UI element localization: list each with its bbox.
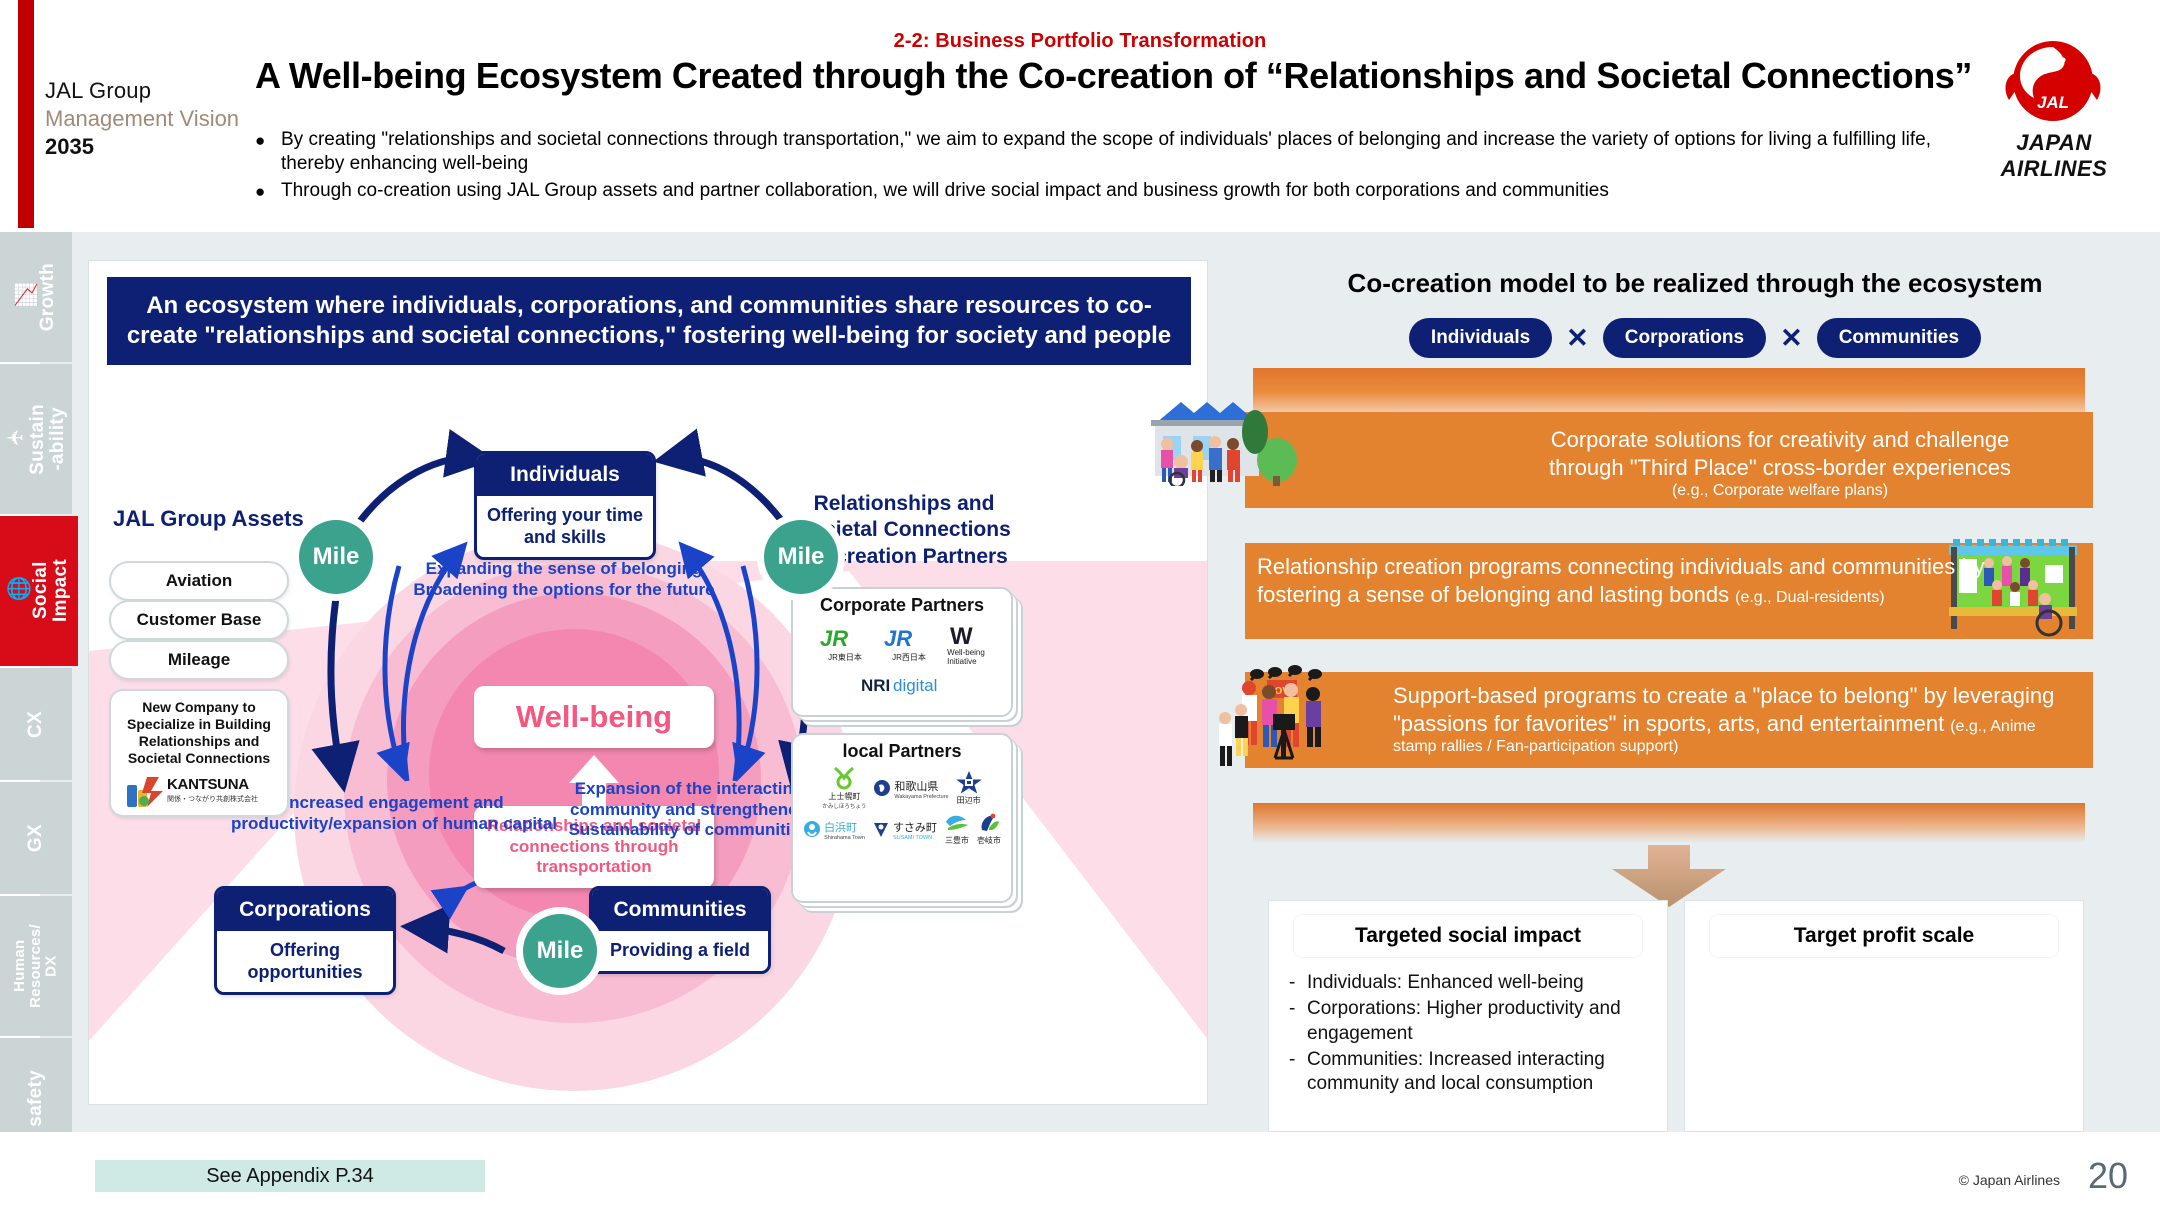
- dash-bullet-icon: -: [1289, 1048, 1307, 1097]
- logo-caption-sub: SUSAMI TOWN: [893, 835, 937, 841]
- target-profit-scale-title: Target profit scale: [1710, 915, 2058, 957]
- logo-caption-sub: かみしほろちょう: [822, 802, 866, 810]
- node-individuals-body: Offering your time and skills: [477, 496, 653, 557]
- svg-text:JAL: JAL: [2037, 93, 2069, 112]
- logo-susami: すさみ町 SUSAMI TOWN: [872, 818, 937, 841]
- cross-icon: ✕: [1780, 323, 1803, 354]
- list-item: -Corporations: Higher productivity and e…: [1289, 997, 1647, 1046]
- svg-text:digital: digital: [893, 676, 937, 695]
- brand-block: JAL Group Management Vision 2035: [45, 78, 275, 160]
- logo-caption: 田辺市: [957, 795, 981, 806]
- bullet-text: Through co-creation using JAL Group asse…: [281, 179, 1609, 203]
- sidebar-item-label: GX: [26, 824, 46, 852]
- shirahama-icon: [803, 820, 821, 838]
- node-communities-title: Communities: [592, 889, 768, 931]
- copyright-text: © Japan Airlines: [1959, 1172, 2060, 1188]
- kantsuna-logo: KANTSUNA 関係・つながり共創株式会社: [123, 771, 275, 811]
- susami-icon: [872, 820, 890, 838]
- page-number: 20: [2088, 1155, 2128, 1197]
- mile-label: Mile: [537, 937, 584, 965]
- sidebar-item-human-resources-dx[interactable]: Human Resources/ DX: [0, 896, 72, 1036]
- logo-wakayama: 和歌山県 Wakayama Prefecture: [873, 777, 948, 800]
- dash-bullet-icon: -: [1289, 971, 1307, 995]
- impact-item-text: Corporations: Higher productivity and en…: [1307, 997, 1647, 1046]
- flow-label-top: Expanding the sense of belonging Broaden…: [364, 559, 764, 600]
- mitoyo-icon: [944, 812, 970, 834]
- sidebar-item-label: Social Impact: [31, 559, 71, 622]
- program-band-1: Corporate solutions for creativity and c…: [1245, 412, 2093, 508]
- tag-communities: Communities: [1817, 318, 1981, 358]
- target-profit-scale-card: Target profit scale This business Synerg…: [1684, 900, 2084, 1132]
- logo-shirahama: 白浜町 Shirahama Town: [803, 818, 865, 841]
- side-tab-rail: 📈Growth ✈Sustain -ability 🌐Social Impact…: [0, 232, 76, 1132]
- svg-text:JR: JR: [884, 626, 912, 651]
- jr-east-icon: JR: [818, 625, 872, 651]
- targeted-social-impact-title: Targeted social impact: [1294, 915, 1642, 957]
- list-item: ● Through co-creation using JAL Group as…: [255, 179, 1955, 205]
- mile-label: Mile: [313, 543, 360, 571]
- node-communities: Communities Providing a field: [589, 886, 771, 974]
- jal-logo: JAL JAPAN AIRLINES: [1968, 38, 2140, 158]
- local-partners-title: local Partners: [793, 735, 1011, 764]
- svg-text:JR: JR: [820, 626, 848, 651]
- local-partners-card: local Partners 上士幌町 かみしほろちょう: [791, 733, 1013, 903]
- targeted-social-impact-card: Targeted social impact -Individuals: Enh…: [1268, 900, 1668, 1132]
- wakayama-icon: [873, 779, 891, 797]
- svg-text:NRI: NRI: [861, 676, 890, 695]
- appendix-reference[interactable]: See Appendix P.34: [95, 1160, 485, 1192]
- logo-tanabe: 田辺市: [956, 770, 982, 806]
- node-corporations-title: Corporations: [217, 889, 393, 931]
- sidebar-item-sustainability[interactable]: ✈Sustain -ability: [0, 364, 72, 514]
- bullet-text: By creating "relationships and societal …: [281, 128, 1955, 177]
- asset-new-company-card: New Company to Specialize in Building Re…: [109, 689, 289, 817]
- asset-pill-customer-base: Customer Base: [109, 600, 289, 640]
- impact-item-text: Communities: Increased interacting commu…: [1307, 1048, 1647, 1097]
- brand-line-2: Management Vision: [45, 106, 275, 132]
- corporate-partners-card: Corporate Partners JR JR東日本 JR JR西日本: [791, 587, 1013, 717]
- jal-crane-icon: JAL: [2001, 38, 2105, 124]
- node-individuals: Individuals Offering your time and skill…: [474, 451, 656, 560]
- list-item: -Individuals: Enhanced well-being: [1289, 971, 1647, 995]
- logo-nri-digital: NRI digital: [860, 671, 944, 697]
- page-title: A Well-being Ecosystem Created through t…: [255, 55, 1975, 97]
- header-bullets: ● By creating "relationships and societa…: [255, 128, 1955, 207]
- tag-corporations: Corporations: [1603, 318, 1766, 358]
- bullet-dot-icon: ●: [255, 128, 281, 154]
- logo-caption-sub: Shirahama Town: [824, 835, 865, 841]
- jr-west-icon: JR: [882, 625, 936, 651]
- program-band-2-example: (e.g., Dual-residents): [1735, 589, 1884, 606]
- logo-caption: JR西日本: [892, 652, 926, 663]
- node-corporations: Corporations Offering opportunities: [214, 886, 396, 995]
- logo-caption: 白浜町: [824, 819, 865, 835]
- tanabe-star-icon: [956, 770, 982, 794]
- node-individuals-title: Individuals: [477, 454, 653, 496]
- node-corporations-body: Offering opportunities: [217, 931, 393, 992]
- asset-pill-mileage: Mileage: [109, 640, 289, 680]
- logo-caption: 壱岐市: [977, 835, 1001, 846]
- globe-icon: 🌐: [7, 576, 31, 602]
- growth-chart-icon: 📈: [14, 282, 38, 308]
- local-partner-logos: 上士幌町 かみしほろちょう 和歌山県 Wakayama Prefecture: [793, 764, 1011, 848]
- jal-group-assets-title: JAL Group Assets: [113, 506, 304, 532]
- mile-badge-bottom: Mile: [523, 914, 597, 988]
- sidebar-item-label: Sustain -ability: [28, 404, 68, 475]
- dash-bullet-icon: -: [1289, 997, 1307, 1046]
- logo-caption: JR東日本: [828, 652, 862, 663]
- tag-individuals: Individuals: [1409, 318, 1552, 358]
- wellbeing-initiative-icon: W: [946, 622, 986, 648]
- sidebar-item-label: Human Resources/ DX: [12, 924, 59, 1008]
- section-eyebrow: 2-2: Business Portfolio Transformation: [0, 30, 2160, 53]
- list-item: -Communities: Increased interacting comm…: [1289, 1048, 1647, 1097]
- sidebar-item-label: CX: [26, 711, 46, 738]
- logo-caption: 上士幌町: [828, 791, 860, 802]
- corporate-partners-title: Corporate Partners: [793, 589, 1011, 618]
- bullet-dot-icon: ●: [255, 179, 281, 205]
- logo-caption-sub: Wakayama Prefecture: [894, 794, 948, 800]
- asset-pill-aviation: Aviation: [109, 561, 289, 601]
- orange-gradient-band-bottom: [1253, 803, 2085, 843]
- fans-cheering-illustration-icon: LOVE: [1215, 658, 1395, 778]
- sidebar-item-social-impact[interactable]: 🌐Social Impact: [0, 516, 78, 666]
- jal-wordmark: JAPAN AIRLINES: [1968, 130, 2140, 182]
- logo-wellbeing-initiative: W Well-being Initiative: [946, 622, 986, 667]
- logo-jr-west: JR JR西日本: [882, 625, 936, 663]
- kantsuna-name: KANTSUNA: [167, 776, 249, 793]
- program-band-2: Relationship creation programs connectin…: [1245, 543, 2093, 639]
- program-band-1-example: (e.g., Corporate welfare plans): [1480, 482, 2080, 500]
- logo-caption: Well-being Initiative: [947, 649, 985, 667]
- program-band-3: LOVE Support-based programs to create a …: [1245, 672, 2093, 768]
- sidebar-item-growth[interactable]: 📈Growth: [0, 232, 72, 362]
- logo-iki: 壱岐市: [977, 812, 1001, 846]
- asset-new-company-text: New Company to Specialize in Building Re…: [115, 699, 283, 767]
- logo-jr-east: JR JR東日本: [818, 625, 872, 663]
- ecosystem-banner: An ecosystem where individuals, corporat…: [107, 277, 1191, 365]
- targeted-social-impact-list: -Individuals: Enhanced well-being -Corpo…: [1269, 957, 1667, 1097]
- nri-digital-icon: NRI digital: [860, 671, 944, 697]
- program-band-1-text: Corporate solutions for creativity and c…: [1480, 426, 2080, 482]
- kamishihoro-icon: [831, 766, 857, 790]
- svg-text:W: W: [950, 623, 973, 648]
- impact-item-text: Individuals: Enhanced well-being: [1307, 971, 1584, 995]
- sidebar-item-gx[interactable]: GX: [0, 782, 72, 894]
- mile-label: Mile: [778, 543, 825, 571]
- brand-line-3: 2035: [45, 134, 275, 160]
- sidebar-item-label: safety: [26, 1070, 46, 1127]
- logo-kamishihoro: 上士幌町 かみしほろちょう: [822, 766, 866, 810]
- brand-line-1: JAL Group: [45, 78, 275, 104]
- airplane-icon: ✈: [4, 425, 28, 449]
- page-header: JAL Group Management Vision 2035 2-2: Bu…: [0, 0, 2160, 232]
- node-communities-body: Providing a field: [592, 931, 768, 971]
- logo-caption: すさみ町: [893, 819, 937, 835]
- corporate-partner-logos: JR JR東日本 JR JR西日本 W Well-being Initiativ…: [793, 618, 1011, 705]
- cross-icon: ✕: [1566, 323, 1589, 354]
- logo-mitoyo: 三豊市: [944, 812, 970, 846]
- list-item: ● By creating "relationships and societa…: [255, 128, 1955, 177]
- logo-caption: 三豊市: [945, 835, 969, 846]
- sidebar-item-label: Growth: [38, 263, 58, 331]
- mile-badge-right: Mile: [764, 520, 838, 594]
- mile-badge-left: Mile: [299, 520, 373, 594]
- co-creation-model-title: Co-creation model to be realized through…: [1270, 268, 2120, 299]
- logo-caption: 和歌山県: [894, 778, 948, 794]
- sidebar-item-cx[interactable]: CX: [0, 668, 72, 780]
- kantsuna-mark-icon: [125, 773, 165, 811]
- kantsuna-subtitle: 関係・つながり共創株式会社: [167, 794, 258, 804]
- down-arrow-icon: [1600, 845, 1738, 907]
- ecosystem-diagram-panel: An ecosystem where individuals, corporat…: [88, 260, 1208, 1105]
- iki-icon: [977, 812, 1001, 834]
- co-creation-tag-row: Individuals ✕ Corporations ✕ Communities: [1270, 318, 2120, 358]
